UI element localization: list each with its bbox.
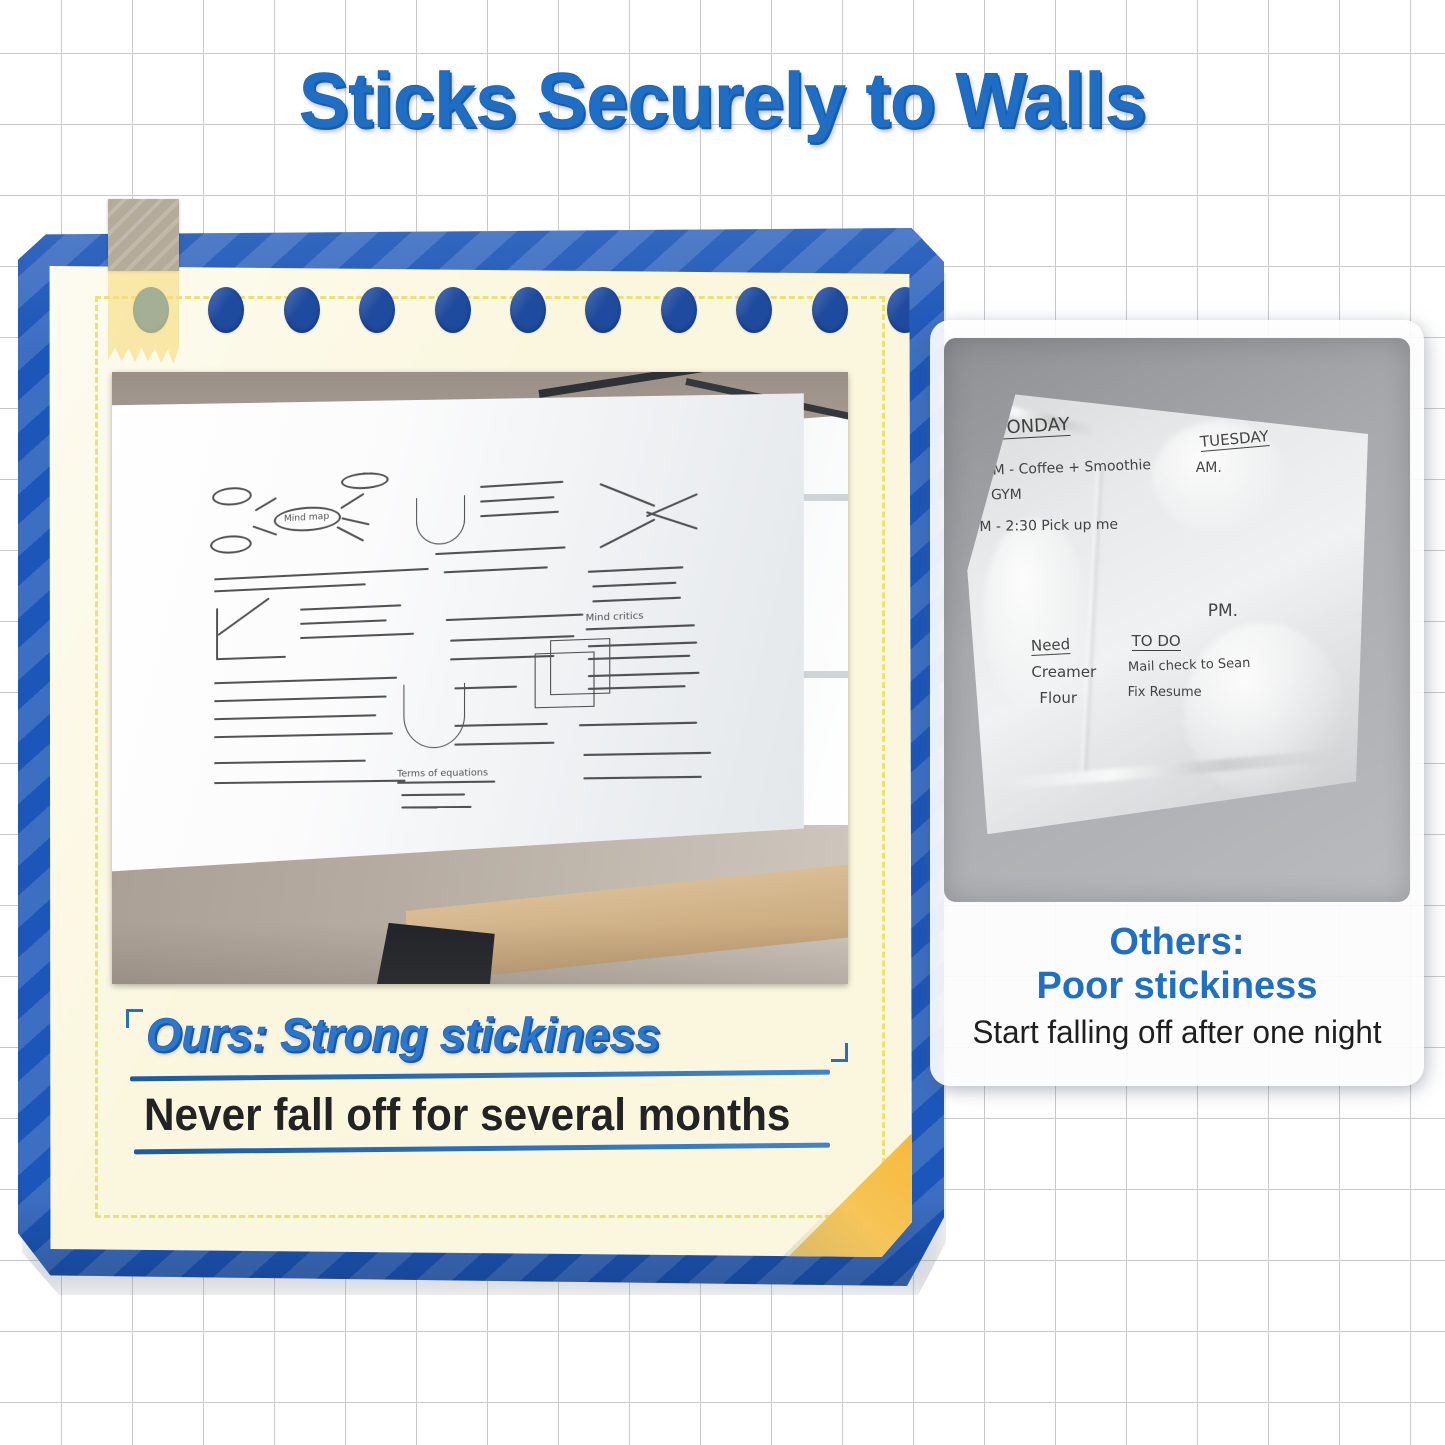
others-caption-headline: Others: Poor stickiness <box>930 920 1424 1009</box>
mindmap-link <box>341 493 365 509</box>
rhombus-edge <box>600 483 656 507</box>
equation-line <box>215 760 367 765</box>
infographic-page: Sticks Securely to Walls <box>0 0 1445 1445</box>
binder-hole <box>359 287 395 333</box>
equation-line <box>481 496 555 503</box>
mindmap-link <box>342 517 370 525</box>
handwriting-monday-item: PM - 2:30 Pick up me <box>971 516 1118 535</box>
others-product-photo: MONDAY AM - Coffee + Smoothie GYM PM - 2… <box>944 338 1410 902</box>
ours-caption-block: Ours: Strong stickiness <box>124 1007 844 1065</box>
equation-line <box>215 714 377 720</box>
others-caption-line2: Poor stickiness <box>930 964 1424 1008</box>
tape-upper-strip <box>108 199 179 271</box>
handwriting-monday-item: GYM <box>991 486 1022 503</box>
binder-hole <box>510 287 546 333</box>
equation-line <box>481 511 560 518</box>
ours-caption-headline: Ours: Strong stickiness <box>146 1007 660 1062</box>
equation-line <box>481 481 564 488</box>
binder-hole-row <box>133 280 912 340</box>
handwriting-need-item: Flour <box>1039 689 1077 707</box>
ours-product-photo: Mind map <box>112 372 848 984</box>
air-bubble <box>1184 623 1344 799</box>
handwriting-tuesday-pm: PM. <box>1208 601 1238 621</box>
mindmap-node <box>341 471 389 490</box>
equation-line <box>455 686 518 690</box>
cone-figure <box>416 495 465 546</box>
terms-heading-rule <box>398 781 496 784</box>
binder-hole <box>812 287 848 333</box>
mindmap-link <box>253 526 278 536</box>
notes-heading: Mind critics <box>586 611 644 624</box>
peeling-sticker-sheet: MONDAY AM - Coffee + Smoothie GYM PM - 2… <box>967 394 1368 834</box>
equation-line <box>584 776 702 780</box>
tape-lower-torn-strip <box>108 271 179 364</box>
handwriting-todo-heading: TO DO <box>1132 632 1181 651</box>
equation-line <box>446 614 584 622</box>
mindmap-link <box>255 497 277 511</box>
equation-line <box>215 733 394 739</box>
equation-line <box>300 604 401 610</box>
terms-heading: Terms of equations <box>398 768 489 780</box>
ours-caption-sub: Never fall off for several months <box>144 1089 790 1141</box>
equation-line <box>300 633 414 639</box>
equation-line <box>588 566 683 573</box>
binder-hole <box>284 287 320 333</box>
binder-hole <box>585 287 621 333</box>
binder-hole <box>435 287 471 333</box>
equation-line <box>593 582 677 588</box>
rhombus-edge <box>600 519 656 549</box>
graph-x-axis <box>216 656 286 660</box>
equation-line <box>215 583 367 592</box>
equation-line <box>455 723 548 727</box>
equation-line <box>455 742 555 746</box>
equation-line <box>300 619 387 625</box>
graph-curve <box>218 598 270 637</box>
floor-shadow <box>112 923 848 984</box>
binder-hole <box>887 287 912 333</box>
corner-bracket-left-icon <box>126 1009 143 1028</box>
equation-line <box>215 780 406 784</box>
others-caption-line1: Others: <box>930 920 1424 964</box>
whiteboard-handwriting: Mind map <box>222 445 781 788</box>
others-caption-sub: Start falling off after one night <box>935 1014 1419 1051</box>
binder-hole <box>208 287 244 333</box>
page-title: Sticks Securely to Walls <box>29 55 1416 146</box>
binder-hole <box>736 287 772 333</box>
handwriting-need-heading: Need <box>1031 635 1071 656</box>
equation-line <box>579 722 697 727</box>
equation-line <box>215 568 430 580</box>
handwriting-monday: MONDAY <box>991 414 1071 440</box>
handwriting-todo-item: Fix Resume <box>1128 685 1202 700</box>
notes-heading-rule <box>586 624 695 630</box>
mindmap-link <box>337 526 365 542</box>
mindmap-node <box>213 486 253 507</box>
corner-bracket-right-icon <box>831 1043 848 1062</box>
handwriting-monday-item: AM - Coffee + Smoothie <box>983 457 1151 479</box>
cone-figure <box>404 683 466 749</box>
equation-line <box>584 752 712 756</box>
equation-line <box>215 677 398 685</box>
handwriting-tuesday-am: AM. <box>1196 460 1222 476</box>
binder-hole <box>661 287 697 333</box>
air-bubble <box>983 518 1087 712</box>
equation-line <box>436 547 566 556</box>
handwriting-need-item: Creamer <box>1031 663 1096 681</box>
equation-line <box>444 566 548 573</box>
mindmap-node <box>211 534 253 554</box>
others-comparison-card: MONDAY AM - Coffee + Smoothie GYM PM - 2… <box>930 320 1424 1086</box>
equation-line <box>593 597 682 603</box>
equation-line <box>215 696 388 703</box>
